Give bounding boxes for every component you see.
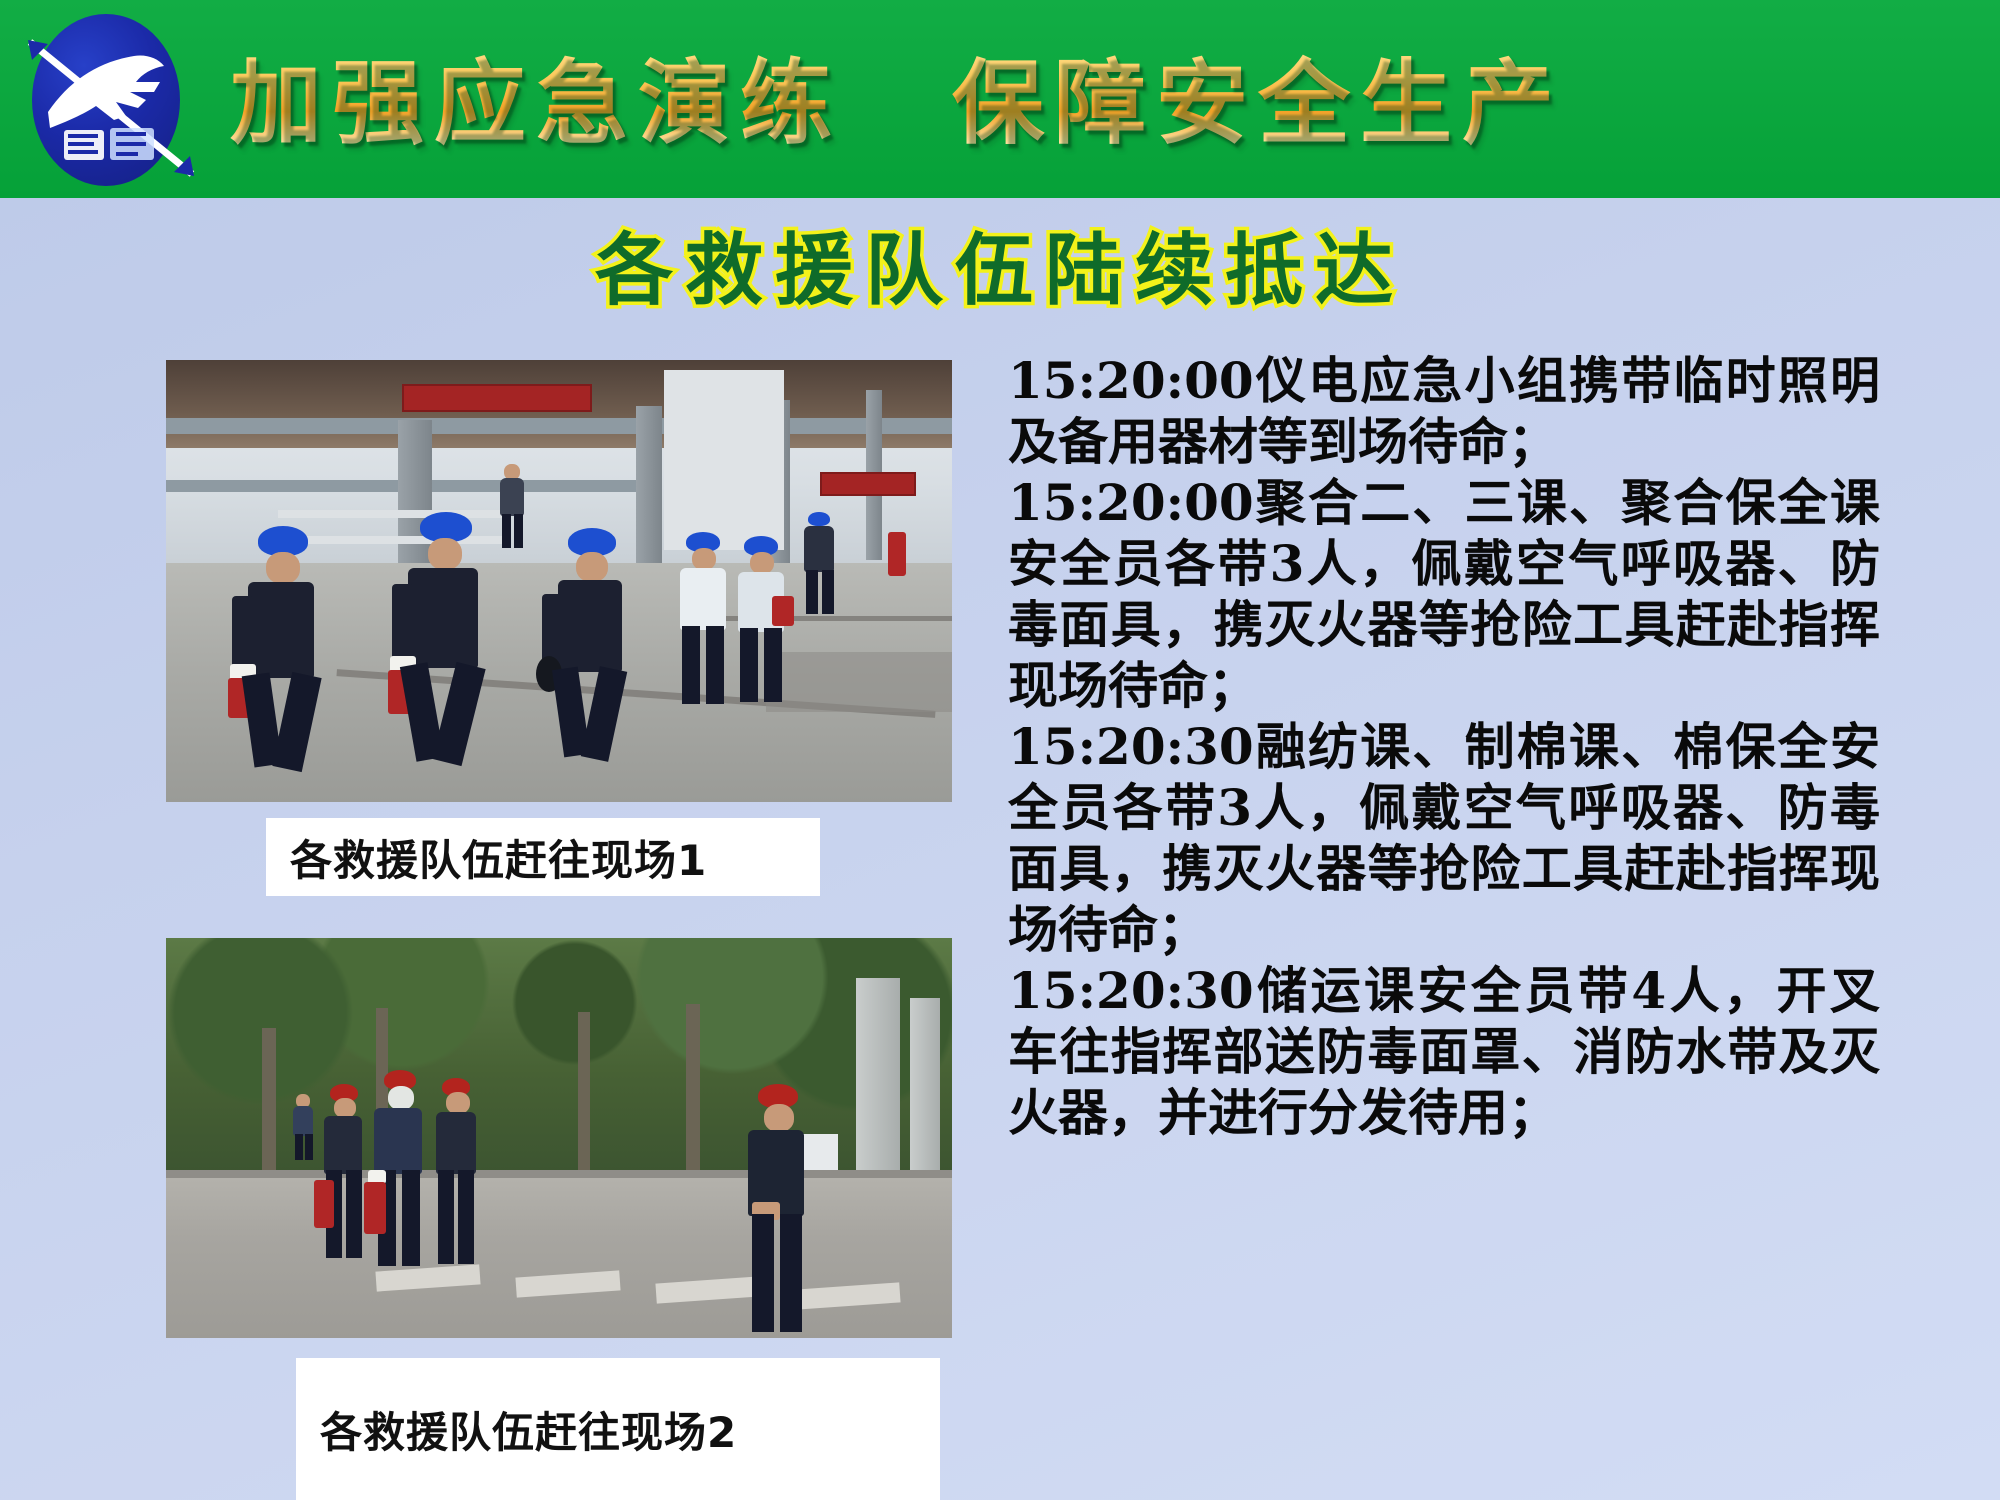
- photo1-beam: [166, 418, 952, 434]
- photo2-tree-trunk: [686, 1004, 700, 1184]
- body-paragraph-2: 15:20:00聚合二、三课、聚合保全课安全员各带3人，佩戴空气呼吸器、防毒面具…: [1008, 472, 1880, 716]
- photo1-white-panel: [664, 370, 784, 550]
- photo2-road: [166, 1170, 952, 1338]
- header-title-right: 保障安全生产: [952, 29, 1564, 162]
- slide-canvas: 加强应急演练 保障安全生产 各救援队伍陆续抵达: [0, 0, 2000, 1500]
- photo2-person: [362, 1070, 432, 1270]
- photo1-banner: [820, 472, 916, 496]
- photo1-person: [534, 528, 654, 766]
- body-paragraph-3: 15:20:30融纺课、制棉课、棉保全安全员各带3人，佩戴空气呼吸器、防毒面具，…: [1008, 716, 1880, 960]
- header-title: 加强应急演练 保障安全生产: [230, 26, 1990, 164]
- photo1-person: [796, 512, 842, 614]
- photo1-person: [496, 464, 528, 548]
- photo2-storage-tank: [856, 978, 900, 1188]
- photo2-person: [290, 1094, 316, 1160]
- photo-caption-1: 各救援队伍赶往现场1: [266, 818, 820, 896]
- photo2-tree-trunk: [578, 1012, 590, 1182]
- photo1-extinguisher: [888, 532, 906, 576]
- body-paragraph-4: 15:20:30储运课安全员带4人，开叉车往指挥部送防毒面罩、消防水带及灭火器，…: [1008, 960, 1880, 1143]
- page-title: 各救援队伍陆续抵达: [0, 208, 2000, 320]
- body-paragraph-1: 15:20:00仪电应急小组携带临时照明及备用器材等到场待命；: [1008, 350, 1880, 472]
- logo-wordmark-icon: [62, 122, 158, 168]
- company-logo: [18, 8, 196, 190]
- photo-caption-2: 各救援队伍赶往现场2: [296, 1358, 940, 1500]
- photo1-person: [222, 526, 342, 776]
- photo2-road-edge: [166, 1170, 952, 1178]
- rescue-team-photo-2: [166, 938, 952, 1338]
- header-title-left: 加强应急演练: [230, 29, 842, 162]
- header-band: 加强应急演练 保障安全生产: [0, 0, 2000, 198]
- photo2-storage-tank: [910, 998, 940, 1188]
- photo1-person: [380, 512, 510, 772]
- photo2-person: [734, 1084, 820, 1334]
- photo1-banner: [402, 384, 592, 412]
- rescue-team-photo-1: [166, 360, 952, 802]
- photo2-person: [424, 1078, 486, 1268]
- photo1-person: [722, 536, 798, 706]
- body-text-block: 15:20:00仪电应急小组携带临时照明及备用器材等到场待命； 15:20:00…: [1008, 350, 1880, 1143]
